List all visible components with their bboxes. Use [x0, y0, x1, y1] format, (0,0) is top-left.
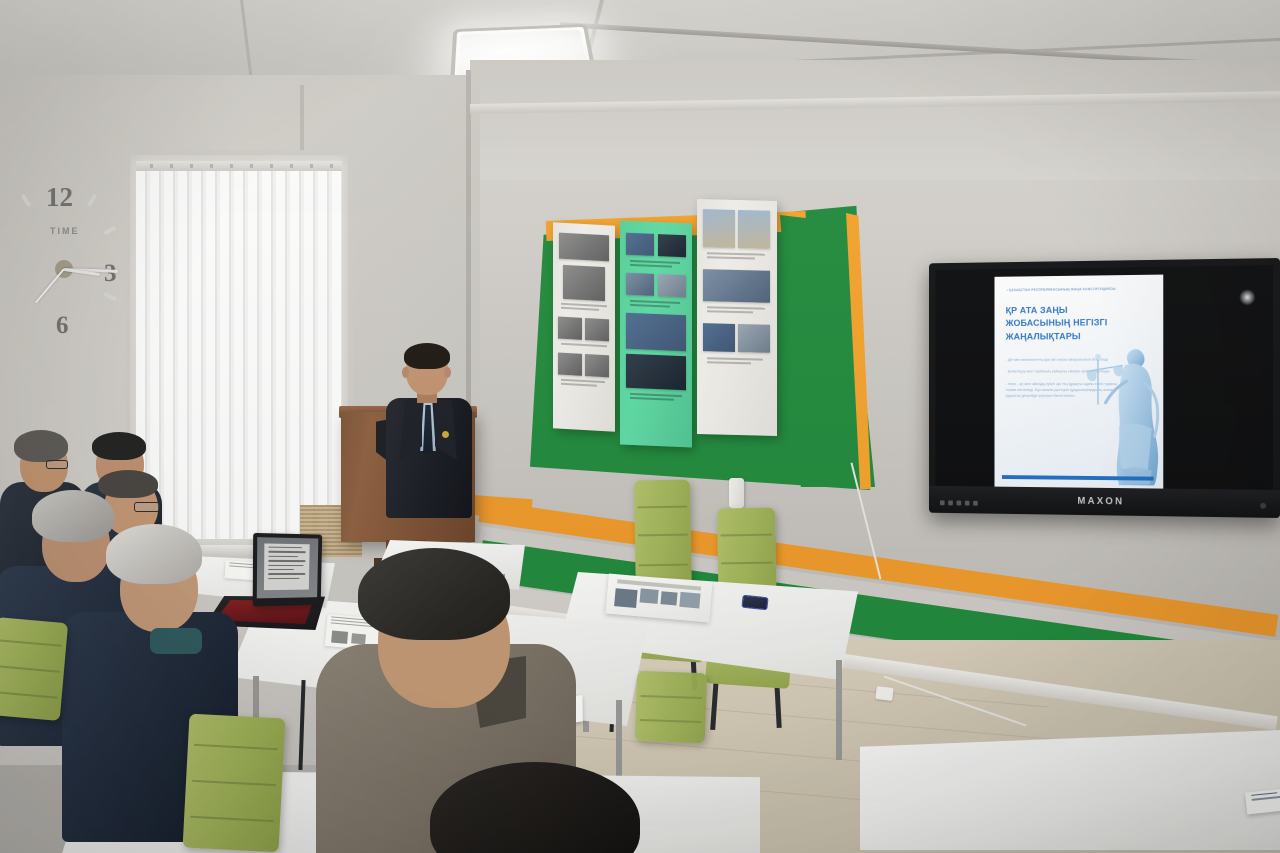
audience-hair: [32, 490, 114, 542]
back-wall-upper: [470, 60, 1280, 180]
eyeglasses: [46, 460, 68, 469]
presenter-ear-right: [444, 367, 451, 378]
presenter-lapel-pin: [442, 431, 449, 438]
laptop-document: [264, 543, 310, 590]
clock-tick: [103, 292, 116, 301]
display-bezel: MAXON: [929, 486, 1280, 518]
laptop[interactable]: [253, 533, 323, 607]
clock-numeral-6: 6: [56, 312, 69, 340]
presenter-hair: [404, 343, 450, 369]
audience-scarf: [150, 628, 202, 654]
photo-board-right: [697, 199, 777, 436]
blinds-rail[interactable]: [136, 161, 342, 171]
clock-brand-label: TIME: [50, 226, 80, 236]
eyeglasses: [134, 502, 160, 512]
conference-room-photo: 12 3 6 TIME: [0, 0, 1280, 853]
name-placard: [1245, 788, 1280, 815]
table-leg: [616, 700, 622, 786]
ir-sensor-icon: [1260, 503, 1266, 509]
table-right: [860, 730, 1280, 850]
presentation-slide: • ҚАЗАҚСТАН РЕСПУБЛИКАСЫНЫҢ ЖАҢА КОНСТИТ…: [994, 275, 1163, 490]
presenter-ear-left: [402, 367, 409, 378]
display-brand-label: MAXON: [1077, 496, 1124, 507]
wall-socket: [875, 686, 893, 701]
chair-back[interactable]: [0, 617, 68, 721]
lady-justice-illustration: [1085, 332, 1164, 486]
screen-glare: [1239, 289, 1255, 305]
table-leg: [836, 660, 842, 760]
photo-board-center: [620, 220, 692, 447]
audience-hair: [358, 548, 510, 640]
clock-second-hand: [35, 268, 65, 303]
clock-numeral-3: 3: [104, 260, 117, 288]
photo-board-left: [553, 222, 615, 431]
chair-back[interactable]: [635, 671, 707, 743]
interactive-display[interactable]: • ҚАЗАҚСТАН РЕСПУБЛИКАСЫНЫҢ ЖАҢА КОНСТИТ…: [929, 258, 1280, 518]
audience-hair: [14, 430, 68, 462]
window: [125, 150, 353, 550]
vertical-blinds[interactable]: [136, 161, 342, 539]
chair-back[interactable]: [183, 714, 286, 853]
audience-hair: [98, 470, 158, 498]
clock-tick: [21, 194, 31, 207]
presenter: [384, 345, 476, 545]
smartphone[interactable]: [741, 595, 768, 611]
display-buttons[interactable]: [940, 500, 978, 505]
audience-hair: [106, 524, 202, 584]
clock-tick: [87, 194, 97, 207]
slide-kicker: • ҚАЗАҚСТАН РЕСПУБЛИКАСЫНЫҢ ЖАҢА КОНСТИТ…: [1007, 287, 1124, 294]
wall-clock: 12 3 6 TIME: [8, 172, 128, 342]
laptop-screen[interactable]: [257, 537, 319, 598]
sanitizer-dispenser[interactable]: [729, 478, 744, 508]
clock-tick: [103, 226, 116, 236]
slide-accent-bar: [1002, 475, 1154, 481]
clock-numeral-12: 12: [46, 182, 73, 213]
wall-stripe-orange-left: [471, 495, 532, 519]
display-screen[interactable]: • ҚАЗАҚСТАН РЕСПУБЛИКАСЫНЫҢ ЖАҢА КОНСТИТ…: [935, 265, 1273, 491]
audience-hair: [92, 432, 146, 460]
